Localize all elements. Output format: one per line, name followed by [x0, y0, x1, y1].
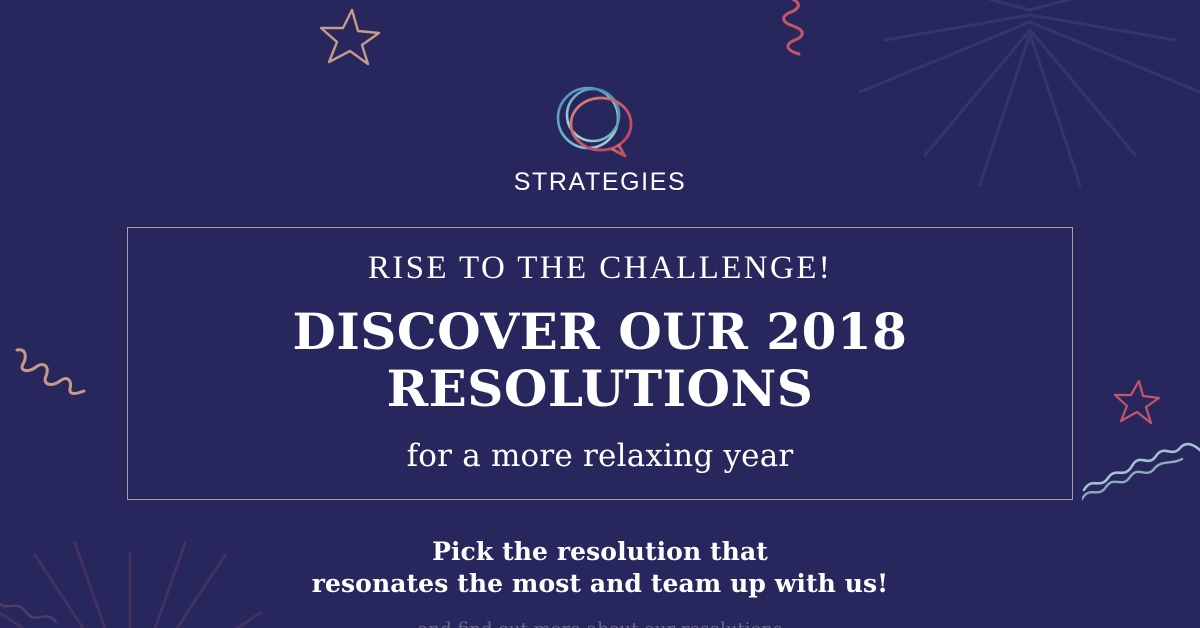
overlapping-circles-speech-bubble-icon — [539, 82, 661, 164]
star-outline-right-icon — [1112, 378, 1162, 426]
headline-frame: RISE TO THE CHALLENGE! DISCOVER OUR 2018… — [127, 227, 1073, 500]
squiggle-top-right-icon — [765, 0, 825, 58]
headline-line-1: DISCOVER OUR 2018 — [293, 302, 908, 361]
subheadline-text: for a more relaxing year — [407, 439, 794, 473]
wave-bottom-right-icon — [1082, 455, 1200, 505]
headline-line-2: RESOLUTIONS — [387, 359, 814, 418]
wave-right-icon — [1082, 438, 1200, 496]
cut-off-text: and find out more about our resolutions — [0, 619, 1200, 628]
headline-text: DISCOVER OUR 2018 RESOLUTIONS — [293, 303, 908, 417]
logo-wordmark: STRATEGIES — [514, 170, 687, 195]
cta-line-2: resonates the most and team up with us! — [0, 568, 1200, 600]
star-outline-top-left-icon — [318, 6, 382, 68]
squiggle-left-middle-icon — [14, 345, 88, 397]
brand-logo: STRATEGIES — [0, 82, 1200, 195]
call-to-action: Pick the resolution that resonates the m… — [0, 536, 1200, 600]
cta-line-1: Pick the resolution that — [0, 536, 1200, 568]
eyebrow-text: RISE TO THE CHALLENGE! — [368, 250, 832, 286]
poster-canvas: STRATEGIES RISE TO THE CHALLENGE! DISCOV… — [0, 0, 1200, 628]
